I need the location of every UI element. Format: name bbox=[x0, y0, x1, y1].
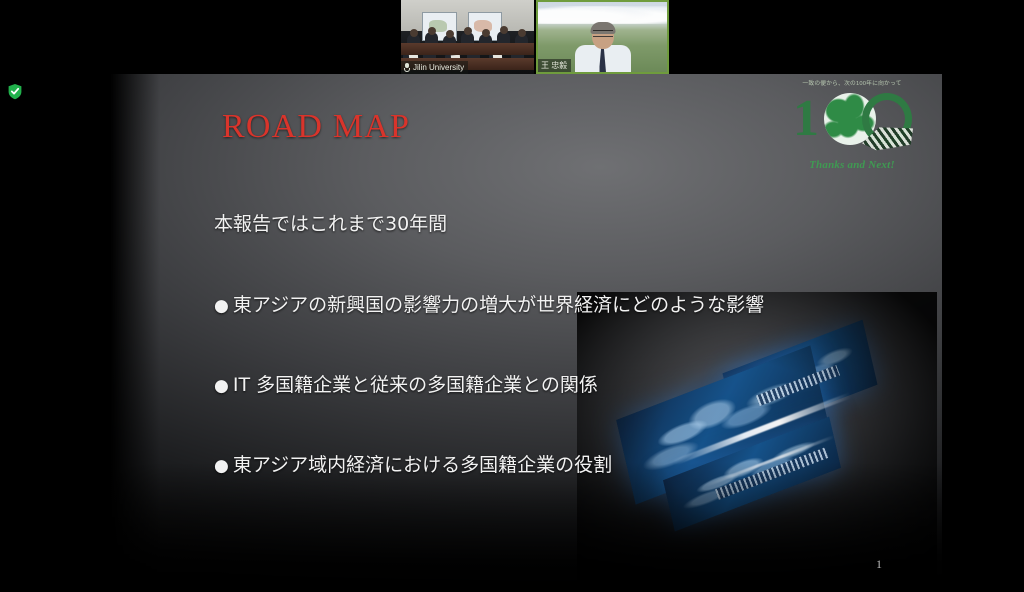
logo-subtitle: Thanks and Next! bbox=[784, 159, 920, 171]
logo-mark: 1 bbox=[784, 87, 920, 153]
artwork-vents-top bbox=[756, 365, 840, 406]
page-title: ROAD MAP bbox=[222, 108, 410, 146]
bullet-text: IT 多国籍企業と従来の多国籍企業との関係 bbox=[233, 374, 598, 396]
artwork-glow-upper bbox=[672, 392, 852, 466]
participant-name: Jilin University bbox=[413, 61, 464, 74]
bullet-marker-icon: ● bbox=[214, 454, 229, 478]
mic-icon bbox=[404, 63, 410, 72]
participant-name: 王 忠毅 bbox=[541, 59, 567, 72]
slide-bullet-2: ●IT 多国籍企業と従来の多国籍企業との関係 bbox=[214, 373, 598, 398]
anniversary-logo: 一致の便から、次の100年に向かって 1 Thanks and Next! bbox=[784, 78, 920, 174]
screen-root: Jilin University 王 忠毅 bbox=[0, 0, 1024, 592]
logo-numeral-one: 1 bbox=[793, 93, 819, 145]
video-thumbnail-strip: Jilin University 王 忠毅 bbox=[401, 0, 669, 74]
bullet-text: 東アジア域内経済における多国籍企業の役割 bbox=[233, 454, 612, 476]
video-tile-wang-zhongyi[interactable]: 王 忠毅 bbox=[536, 0, 669, 74]
bullet-marker-icon: ● bbox=[214, 294, 229, 318]
shared-presentation-slide[interactable]: ROAD MAP 一致の便から、次の100年に向かって 1 Thanks and… bbox=[42, 74, 942, 592]
video-tile-label: 王 忠毅 bbox=[538, 59, 571, 72]
video-tile-jilin-university[interactable]: Jilin University bbox=[401, 0, 534, 74]
slide-page-number: 1 bbox=[876, 557, 882, 572]
shield-check-icon[interactable] bbox=[7, 83, 23, 100]
slide-bullet-1: ●東アジアの新興国の影響力の増大が世界経済にどのような影響 bbox=[214, 293, 764, 318]
bullet-text: 東アジアの新興国の影響力の増大が世界経済にどのような影響 bbox=[233, 294, 764, 316]
bullet-marker-icon: ● bbox=[214, 374, 229, 398]
slide-bottom-fade bbox=[42, 462, 942, 592]
logo-tagline: 一致の便から、次の100年に向かって bbox=[787, 78, 918, 87]
artwork-panel-top bbox=[722, 320, 877, 439]
slide-bullet-3: ●東アジア域内経済における多国籍企業の役割 bbox=[214, 453, 612, 478]
classroom-desk-back bbox=[401, 43, 534, 55]
speaker-glasses bbox=[593, 30, 613, 37]
video-tile-label: Jilin University bbox=[401, 61, 468, 74]
slide-intro-line: 本報告ではこれまで30年間 bbox=[214, 212, 447, 236]
